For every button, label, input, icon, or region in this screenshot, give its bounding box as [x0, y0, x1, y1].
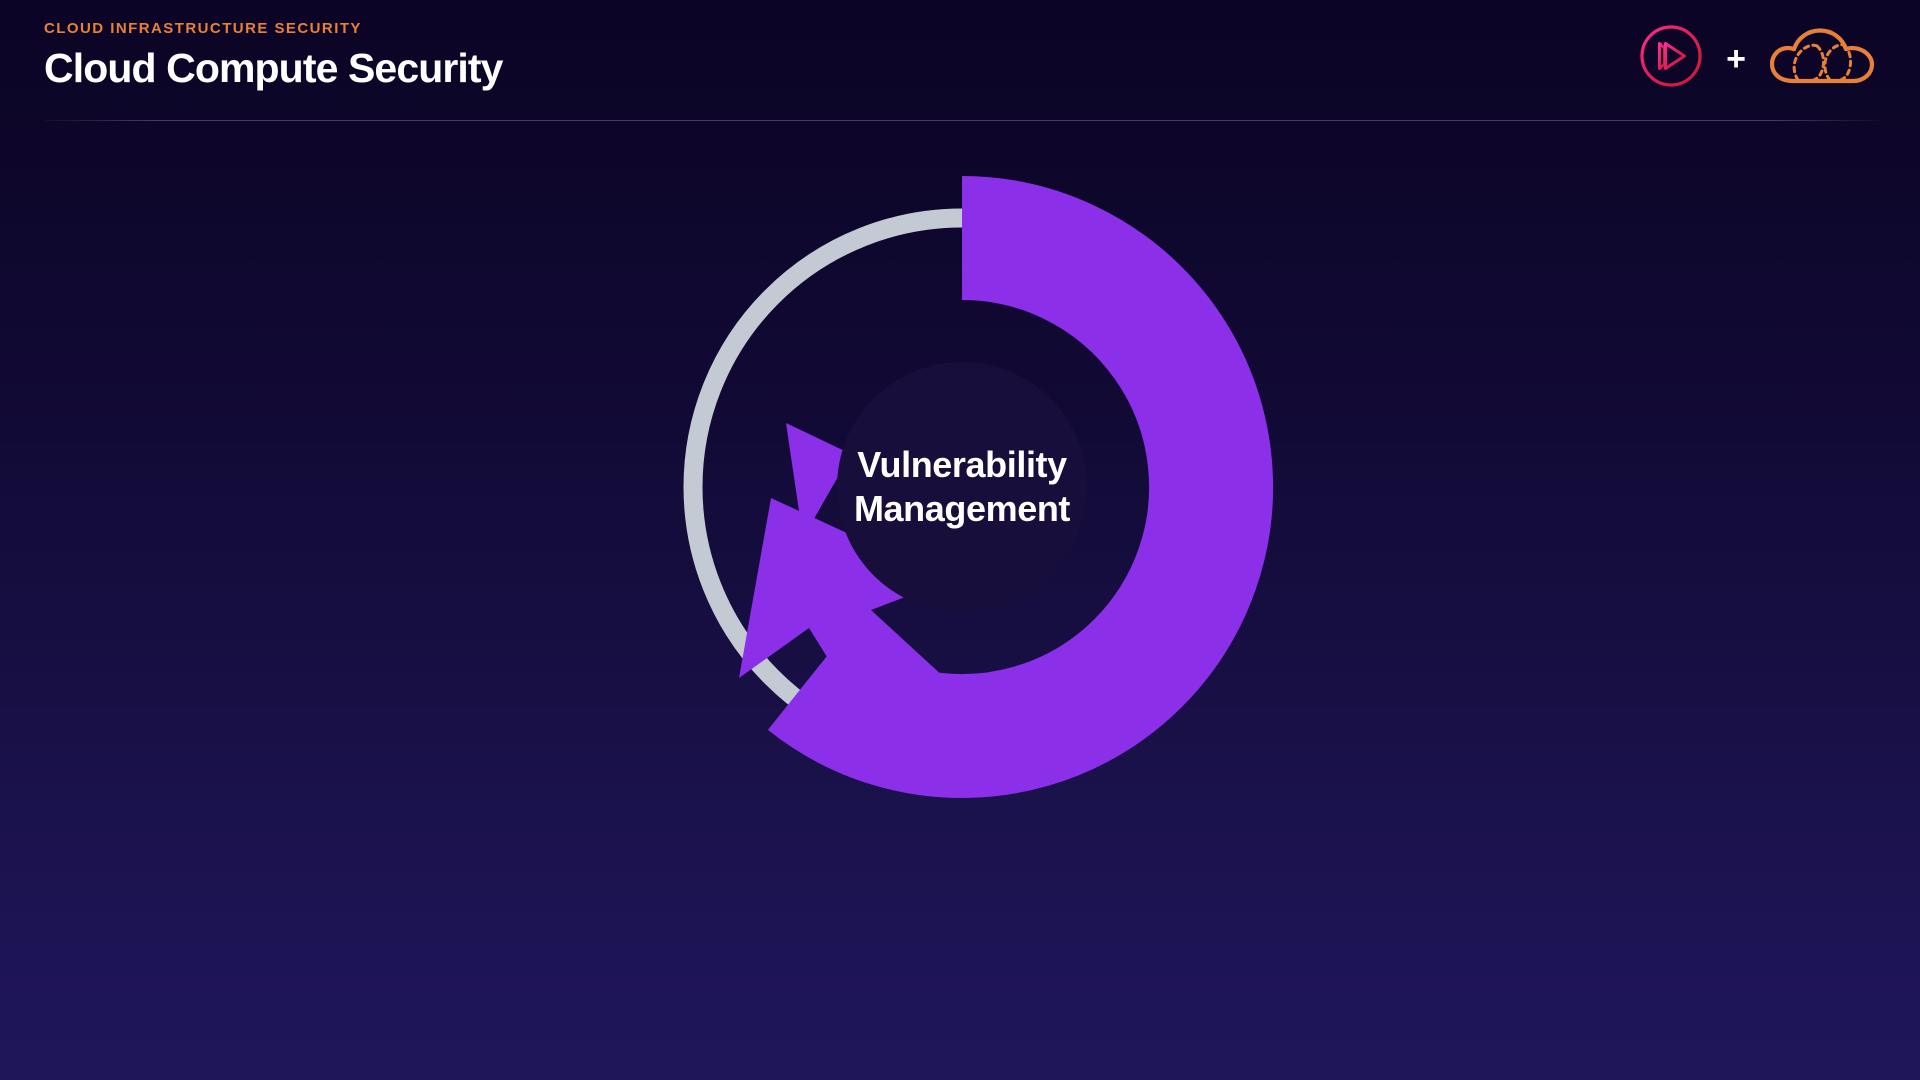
vulnerability-management-cycle: Vulnerability Management [683, 208, 1241, 766]
inner-disc [837, 362, 1087, 612]
main-stage: Vulnerability Management [0, 122, 1920, 1080]
page-header: CLOUD INFRASTRUCTURE SECURITY Cloud Comp… [0, 0, 1920, 122]
play-circle-logo [1638, 23, 1704, 94]
eyebrow-label: CLOUD INFRASTRUCTURE SECURITY [44, 20, 503, 38]
cycle-ring-graphic [683, 208, 1241, 766]
header-logo-group: + [1638, 22, 1876, 94]
cloud-outline-logo [1768, 25, 1876, 92]
plus-separator: + [1726, 42, 1746, 76]
header-divider [44, 120, 1880, 121]
header-title-block: CLOUD INFRASTRUCTURE SECURITY Cloud Comp… [44, 20, 503, 93]
page-title: Cloud Compute Security [44, 43, 503, 93]
